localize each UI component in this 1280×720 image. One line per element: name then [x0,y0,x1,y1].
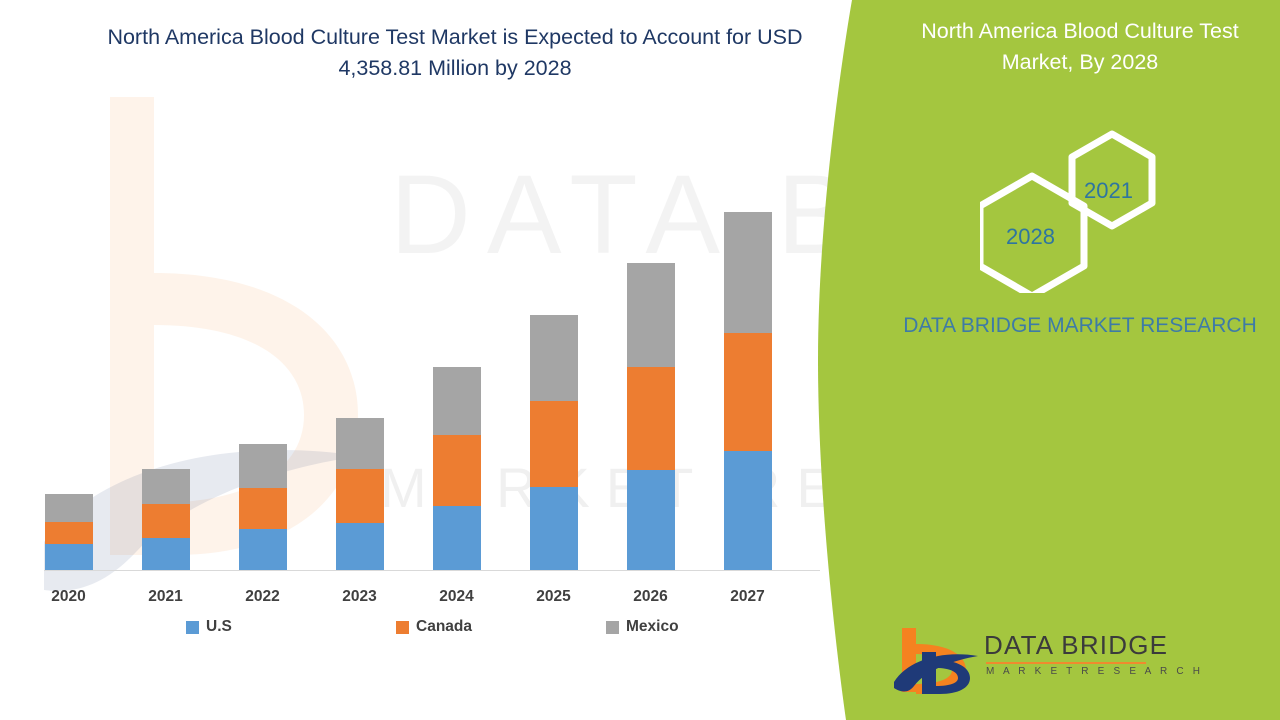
chart-panel: DATA BRIDGE MARKET RESEARCH North Americ… [0,0,870,720]
hexagon-2028-label: 2028 [1006,224,1055,250]
bar-segment-mexico [45,494,93,522]
bar-segment-mexico [433,367,481,435]
bar-segment-canada [336,469,384,523]
bar-segment-canada [627,367,675,470]
chart-legend: U.SCanadaMexico [186,618,706,640]
bar-segment-us [627,470,675,571]
bar-segment-mexico [336,418,384,469]
hexagon-2021-label: 2021 [1084,178,1133,204]
logo-title: DATA BRIDGE [984,630,1168,661]
bar-group [627,263,675,571]
bar-segment-us [724,451,772,571]
bar-segment-us [530,487,578,571]
bar-segment-us [142,538,190,571]
bar-segment-mexico [724,212,772,333]
logo-mark-icon [892,626,980,696]
hexagon-2028-icon [980,176,1084,293]
bar-segment-mexico [627,263,675,367]
x-tick-label: 2024 [417,588,497,606]
bar-group [45,494,93,571]
x-tick-label: 2023 [320,588,400,606]
logo-divider [986,662,1146,664]
bar-segment-canada [239,488,287,529]
x-axis-line [44,570,820,571]
bar-segment-us [336,523,384,571]
bar-segment-us [433,506,481,571]
plot-area [44,190,820,571]
legend-item-mexico[interactable]: Mexico [606,618,679,636]
chart-title: North America Blood Culture Test Market … [95,22,815,83]
bar-segment-canada [433,435,481,506]
bar-segment-mexico [142,469,190,504]
bar-group [530,315,578,571]
x-tick-label: 2027 [708,588,788,606]
legend-swatch-icon [396,621,409,634]
bar-group [142,469,190,571]
data-bridge-logo: DATA BRIDGE M A R K E T R E S E A R C H [892,626,1152,704]
legend-label: U.S [206,618,232,636]
bar-segment-mexico [530,315,578,401]
bar-segment-us [239,529,287,571]
logo-subtitle: M A R K E T R E S E A R C H [986,666,1203,677]
bar-group [724,212,772,571]
bar-segment-canada [724,333,772,451]
x-tick-label: 2026 [611,588,691,606]
hexagon-group: 2028 2021 [980,128,1190,293]
bar-group [433,367,481,571]
legend-item-us[interactable]: U.S [186,618,232,636]
legend-label: Mexico [626,618,679,636]
legend-label: Canada [416,618,472,636]
legend-swatch-icon [186,621,199,634]
bar-group [336,418,384,571]
bar-segment-canada [142,504,190,538]
bar-segment-canada [530,401,578,487]
x-tick-label: 2021 [126,588,206,606]
bar-group [239,444,287,571]
bar-segment-mexico [239,444,287,488]
legend-item-canada[interactable]: Canada [396,618,472,636]
bar-segment-canada [45,522,93,544]
hexagon-2021-icon [1072,134,1152,226]
legend-swatch-icon [606,621,619,634]
panel-title: North America Blood Culture Test Market,… [890,16,1270,78]
x-tick-label: 2020 [29,588,109,606]
bar-segment-us [45,544,93,571]
x-tick-label: 2025 [514,588,594,606]
brand-name-text: DATA BRIDGE MARKET RESEARCH [885,310,1275,342]
x-tick-label: 2022 [223,588,303,606]
